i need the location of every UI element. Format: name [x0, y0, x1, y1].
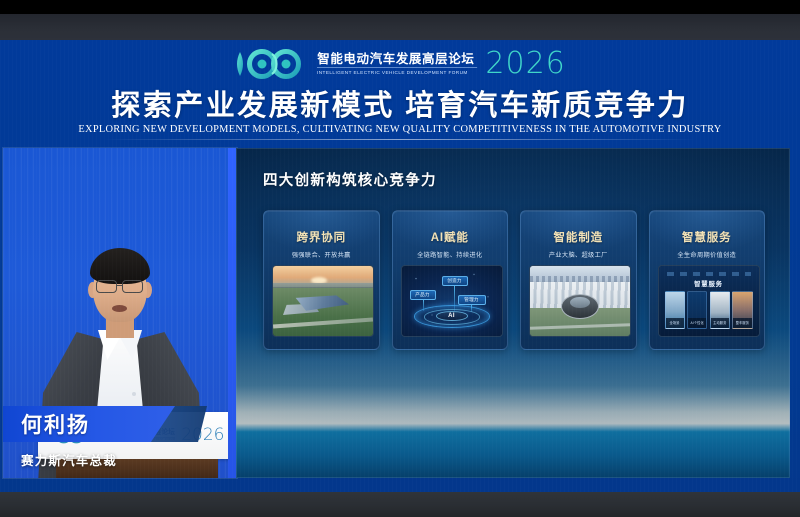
headline-en: EXPLORING NEW DEVELOPMENT MODELS, CULTIV…	[0, 124, 800, 135]
dashboard-cell: 主动服务	[710, 291, 730, 329]
lapel-pin	[132, 392, 136, 396]
node-product-power: 产品力	[410, 290, 436, 300]
dashboard-cell-label: 整车服务	[733, 318, 751, 328]
ai-hub-diagram: 产品力 创造力 管理力 AI	[401, 265, 503, 337]
card-title: 智慧服务	[650, 229, 765, 245]
screenshot-stage: 智能电动汽车发展高层论坛 INTELLIGENT ELECTRIC VEHICL…	[0, 0, 800, 517]
top-black-bar	[0, 0, 800, 14]
headline-divider	[104, 139, 696, 140]
speaker-name: 何利扬	[3, 409, 90, 439]
dashboard-cell-label: AI个性化	[688, 318, 706, 328]
dashboard-tab-strip	[667, 272, 751, 276]
card-subtitle: 强强联合、开放共赢	[264, 250, 379, 259]
card-intelligent-manufacturing[interactable]: 智能制造 产业大脑、超级工厂	[520, 210, 637, 350]
ai-core-label: AI	[448, 313, 455, 319]
dashboard-heading: 智慧服务	[659, 279, 759, 288]
card-subtitle: 全链路智能、持续进化	[393, 250, 508, 259]
card-cross-domain-collaboration[interactable]: 跨界协同 强强联合、开放共赢	[263, 210, 380, 350]
mouth	[112, 305, 127, 312]
ring-building-courtyard	[570, 297, 590, 308]
dashboard-cell: 整车服务	[732, 291, 752, 329]
glasses-lens-left	[96, 280, 117, 293]
card-title: 智能制造	[521, 229, 636, 245]
dashboard-layers: 智慧服务 全场景 AI个性化 主动服务	[659, 266, 759, 336]
broadcast-page: 智能电动汽车发展高层论坛 INTELLIGENT ELECTRIC VEHICL…	[0, 40, 800, 492]
headline-cn: 探索产业发展新模式 培育汽车新质竞争力	[0, 82, 800, 124]
photo-layers	[273, 266, 373, 336]
node-creative-power: 创造力	[442, 276, 468, 286]
card-subtitle: 产业大脑、超级工厂	[521, 250, 636, 259]
dashboard-cell-grid: 全场景 AI个性化 主动服务 整车服务	[665, 291, 753, 329]
glasses-bridge	[116, 285, 123, 286]
card-title: AI赋能	[393, 229, 508, 245]
ai-core-node: AI	[436, 311, 468, 321]
dashboard-cell-label: 全场景	[666, 318, 684, 328]
card-title: 跨界协同	[264, 229, 379, 245]
ring-building-industrial-park-photo	[529, 265, 631, 337]
aerial-factory-sunset-photo	[272, 265, 374, 337]
card-smart-service[interactable]: 智慧服务 全生命周期价值创造 智慧服务 全场景	[649, 210, 766, 350]
dashboard-cell: 全场景	[665, 291, 685, 329]
card-subtitle: 全生命周期价值创造	[650, 250, 765, 259]
speaker-video-panel[interactable]: 智能电动汽车发展高层论坛 INTELLIGENT ELECTRIC VEHICL…	[3, 148, 237, 478]
ico-logo-icon	[234, 48, 310, 80]
hair	[90, 248, 150, 284]
photo-layers	[530, 266, 630, 336]
diagram-layers: 产品力 创造力 管理力 AI	[402, 266, 502, 336]
presentation-slide[interactable]: 四大创新构筑核心竞争力 跨界协同 强强联合、开放共赢	[236, 148, 790, 478]
glasses-lens-right	[122, 280, 143, 293]
forum-name-cn: 智能电动汽车发展高层论坛	[317, 52, 474, 66]
forum-logo-row: 智能电动汽车发展高层论坛 INTELLIGENT ELECTRIC VEHICL…	[0, 48, 800, 80]
event-header: 智能电动汽车发展高层论坛 INTELLIGENT ELECTRIC VEHICL…	[0, 40, 800, 150]
dashboard-cell-label: 主动服务	[711, 318, 729, 328]
forum-name-block: 智能电动汽车发展高层论坛 INTELLIGENT ELECTRIC VEHICL…	[317, 52, 474, 77]
innovation-card-list: 跨界协同 强强联合、开放共赢	[263, 210, 765, 350]
forum-name-en: INTELLIGENT ELECTRIC VEHICLE DEVELOPMENT…	[317, 67, 477, 77]
speaker-nameplate: 何利扬 赛力斯汽车总裁	[3, 406, 237, 478]
top-gray-bar	[0, 14, 800, 40]
forum-year: 2026	[485, 49, 565, 79]
bottom-gray-bar	[0, 492, 800, 517]
card-ai-empowerment[interactable]: AI赋能 全链路智能、持续进化 产品力 创造力 管理力	[392, 210, 509, 350]
nameplate-ribbon: 何利扬	[3, 406, 175, 442]
slide-title: 四大创新构筑核心竞争力	[263, 169, 437, 190]
smart-service-dashboard: 智慧服务 全场景 AI个性化 主动服务	[658, 265, 760, 337]
dashboard-cell: AI个性化	[687, 291, 707, 329]
node-management-power: 管理力	[458, 295, 486, 305]
speaker-title: 赛力斯汽车总裁	[21, 450, 117, 469]
